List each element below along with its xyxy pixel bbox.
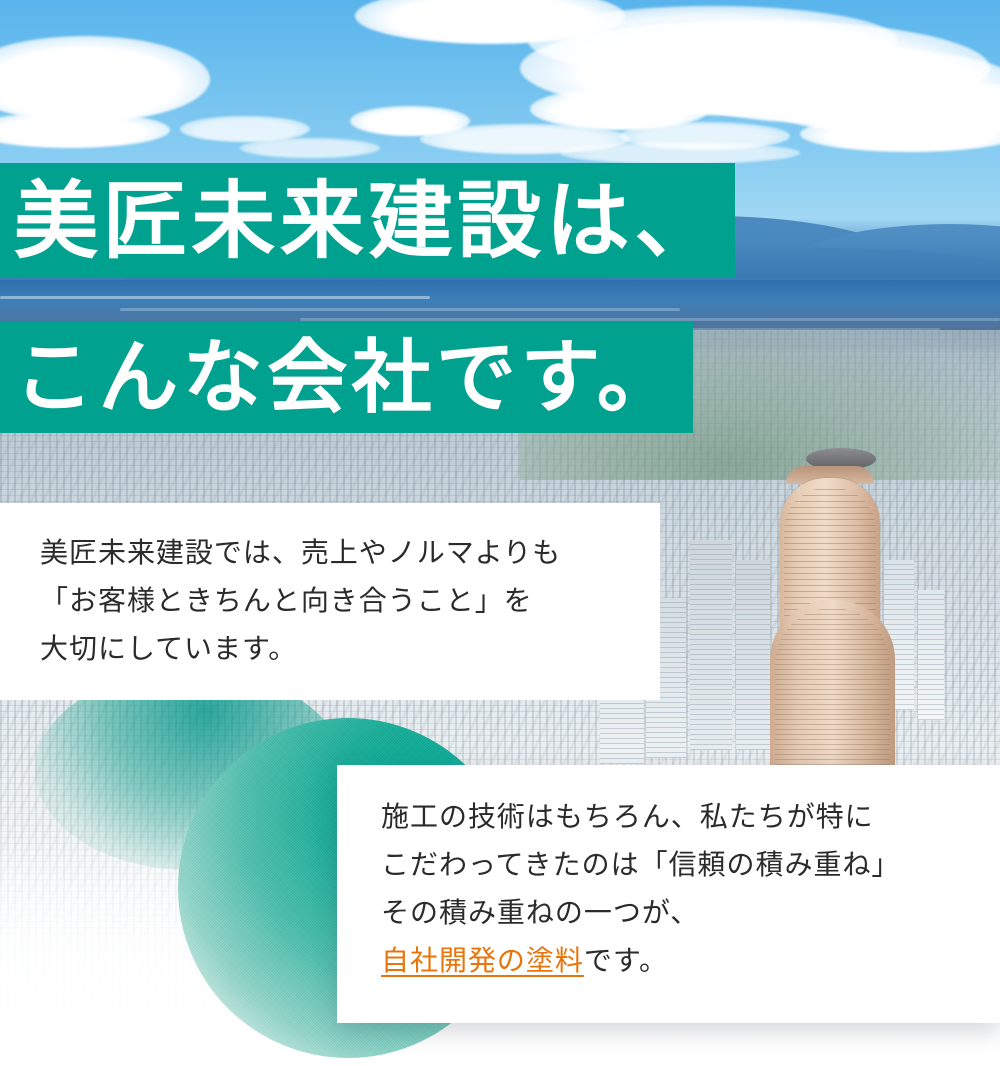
hero-section: 美匠未来建設は、 こんな会社です。 美匠未来建設では、売上やノルマよりも 「お客… — [0, 0, 1000, 1066]
craft-card: 施工の技術はもちろん、私たちが特に こだわってきたのは「信頼の積み重ね」 その積… — [337, 765, 1000, 1023]
philosophy-card: 美匠未来建設では、売上やノルマよりも 「お客様ときちんと向き合うこと」を 大切に… — [0, 503, 660, 700]
craft-card-line-4-suffix: です。 — [584, 945, 668, 976]
craft-card-line-3: その積み重ねの一つが、 — [381, 889, 976, 937]
building-slab — [918, 590, 944, 720]
philosophy-card-line-2: 「お客様ときちんと向き合うこと」を — [40, 577, 636, 625]
philosophy-card-line-3: 大切にしています。 — [40, 625, 636, 673]
shoreline-streak — [300, 318, 1000, 321]
philosophy-card-line-1: 美匠未来建設では、売上やノルマよりも — [40, 529, 636, 577]
cloud-icon — [240, 138, 380, 158]
hero-heading-line-1: 美匠未来建設は、 — [0, 163, 735, 278]
cloud-icon — [0, 112, 170, 148]
shoreline-streak — [0, 296, 430, 299]
cloud-icon — [800, 116, 1000, 152]
craft-card-line-4: 自社開発の塗料です。 — [381, 937, 976, 985]
shoreline-streak — [120, 308, 680, 311]
building-slab — [690, 540, 732, 750]
craft-card-line-1: 施工の技術はもちろん、私たちが特に — [381, 793, 976, 841]
craft-card-line-2: こだわってきたのは「信頼の積み重ね」 — [381, 841, 976, 889]
hero-heading-line-2: こんな会社です。 — [0, 322, 693, 433]
building-slab — [736, 560, 770, 750]
cloud-icon — [560, 142, 800, 164]
original-paint-link[interactable]: 自社開発の塗料 — [381, 945, 584, 976]
